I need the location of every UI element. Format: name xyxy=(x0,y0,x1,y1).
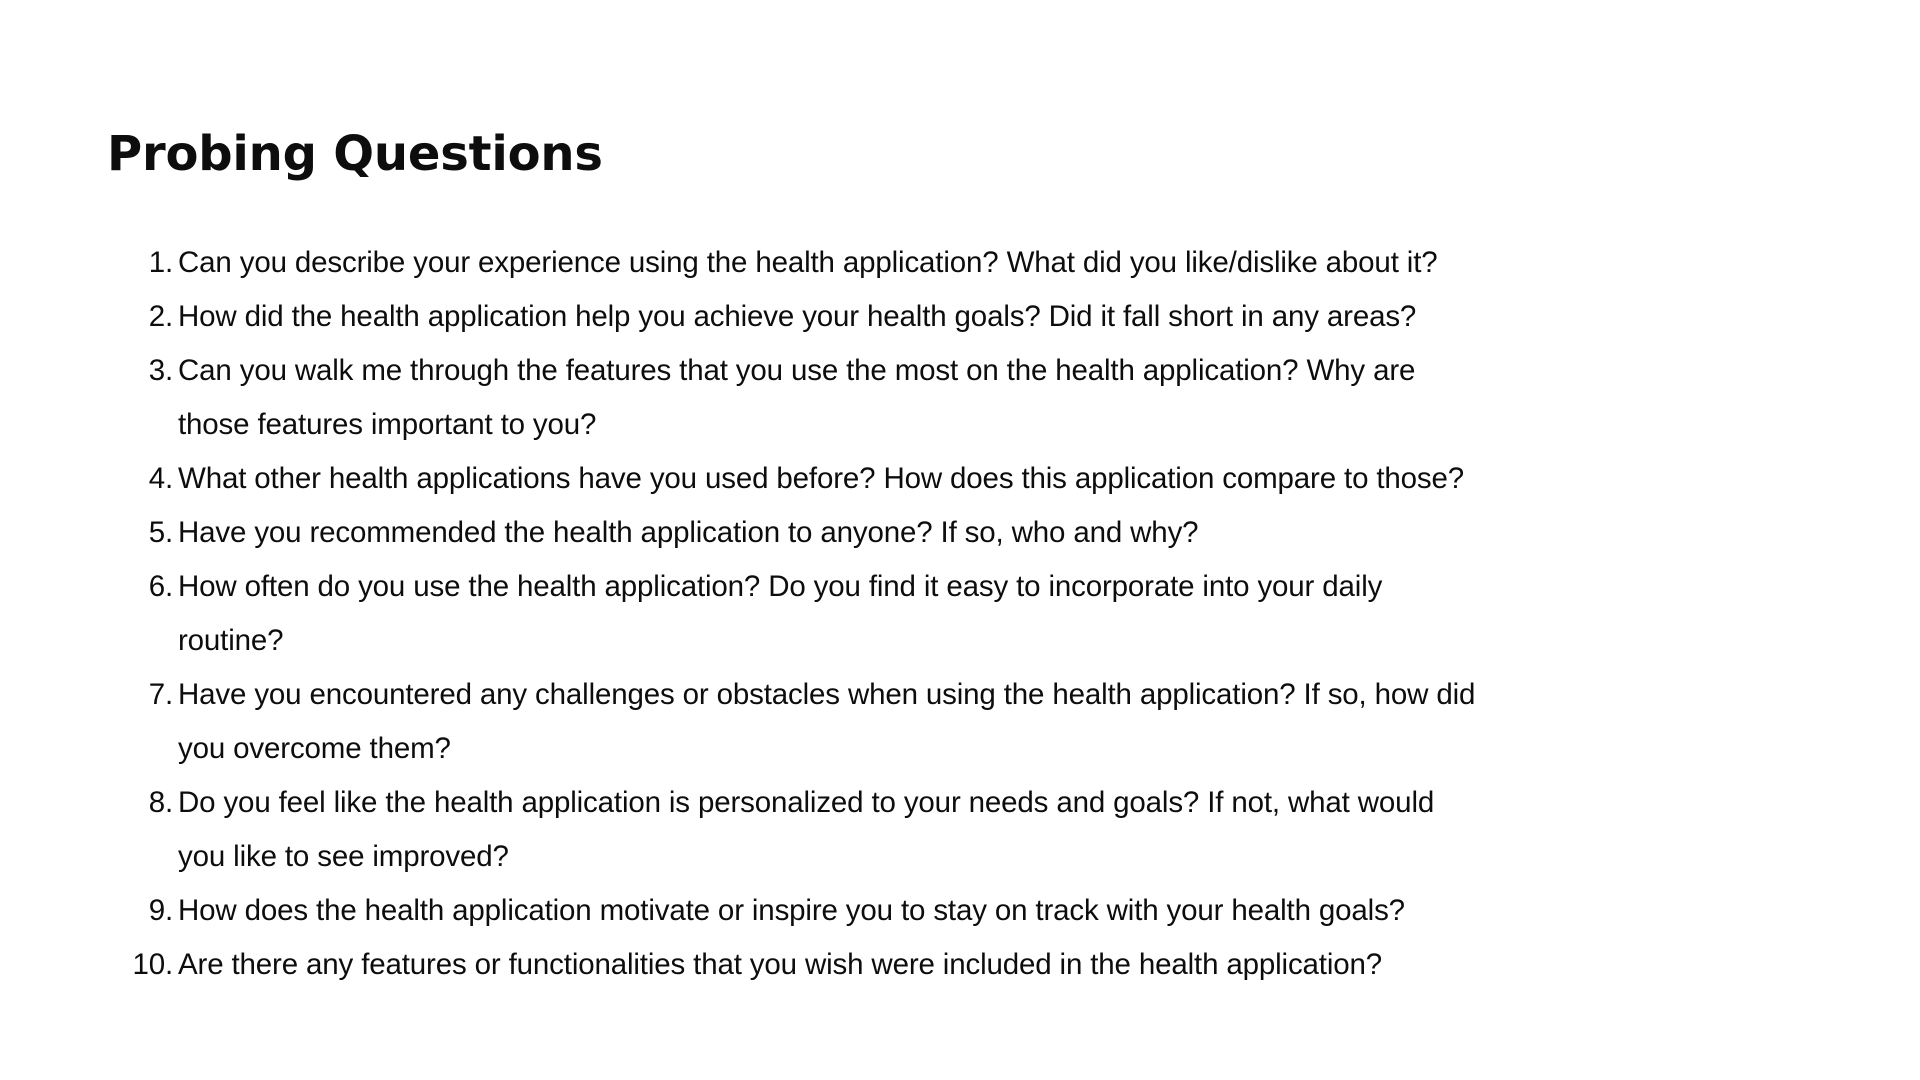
list-item-text-line: Do you feel like the health application … xyxy=(178,776,1818,830)
list-item-text: Can you walk me through the features tha… xyxy=(178,344,1818,452)
list-item: 1. Can you describe your experience usin… xyxy=(120,236,1820,290)
list-item-number: 8. xyxy=(120,776,178,830)
list-item-number: 7. xyxy=(120,668,178,722)
list-item: 3. Can you walk me through the features … xyxy=(120,344,1820,452)
probing-questions-list: 1. Can you describe your experience usin… xyxy=(120,236,1820,992)
page-title: Probing Questions xyxy=(107,130,603,178)
list-item-number: 5. xyxy=(120,506,178,560)
list-item-number: 2. xyxy=(120,290,178,344)
list-item-number: 9. xyxy=(120,884,178,938)
list-item-text: How does the health application motivate… xyxy=(178,884,1818,938)
list-item-text: Can you describe your experience using t… xyxy=(178,236,1818,290)
list-item-text: Are there any features or functionalitie… xyxy=(178,938,1818,992)
list-item-text-line: How often do you use the health applicat… xyxy=(178,560,1818,614)
list-item-number: 6. xyxy=(120,560,178,614)
list-item-text-line: you like to see improved? xyxy=(178,830,1818,884)
list-item-text-line: you overcome them? xyxy=(178,722,1818,776)
list-item-text: How did the health application help you … xyxy=(178,290,1818,344)
list-item-text: How often do you use the health applicat… xyxy=(178,560,1818,668)
list-item: 6. How often do you use the health appli… xyxy=(120,560,1820,668)
list-item: 5. Have you recommended the health appli… xyxy=(120,506,1820,560)
list-item-text: Do you feel like the health application … xyxy=(178,776,1818,884)
list-item-number: 4. xyxy=(120,452,178,506)
list-item: 8. Do you feel like the health applicati… xyxy=(120,776,1820,884)
slide-canvas: Probing Questions 1. Can you describe yo… xyxy=(0,0,1920,1080)
list-item: 10. Are there any features or functional… xyxy=(120,938,1820,992)
list-item-number: 1. xyxy=(120,236,178,290)
list-item-number: 10. xyxy=(120,938,178,992)
list-item: 7. Have you encountered any challenges o… xyxy=(120,668,1820,776)
list-item-text: Have you encountered any challenges or o… xyxy=(178,668,1818,776)
list-item: 4. What other health applications have y… xyxy=(120,452,1820,506)
list-item-text-line: Have you encountered any challenges or o… xyxy=(178,668,1818,722)
list-item-text-line: routine? xyxy=(178,614,1818,668)
list-item-text: What other health applications have you … xyxy=(178,452,1818,506)
list-item-text: Have you recommended the health applicat… xyxy=(178,506,1818,560)
list-item: 9. How does the health application motiv… xyxy=(120,884,1820,938)
list-item-number: 3. xyxy=(120,344,178,398)
list-item: 2. How did the health application help y… xyxy=(120,290,1820,344)
list-item-text-line: Can you walk me through the features tha… xyxy=(178,344,1818,398)
list-item-text-line: those features important to you? xyxy=(178,398,1818,452)
